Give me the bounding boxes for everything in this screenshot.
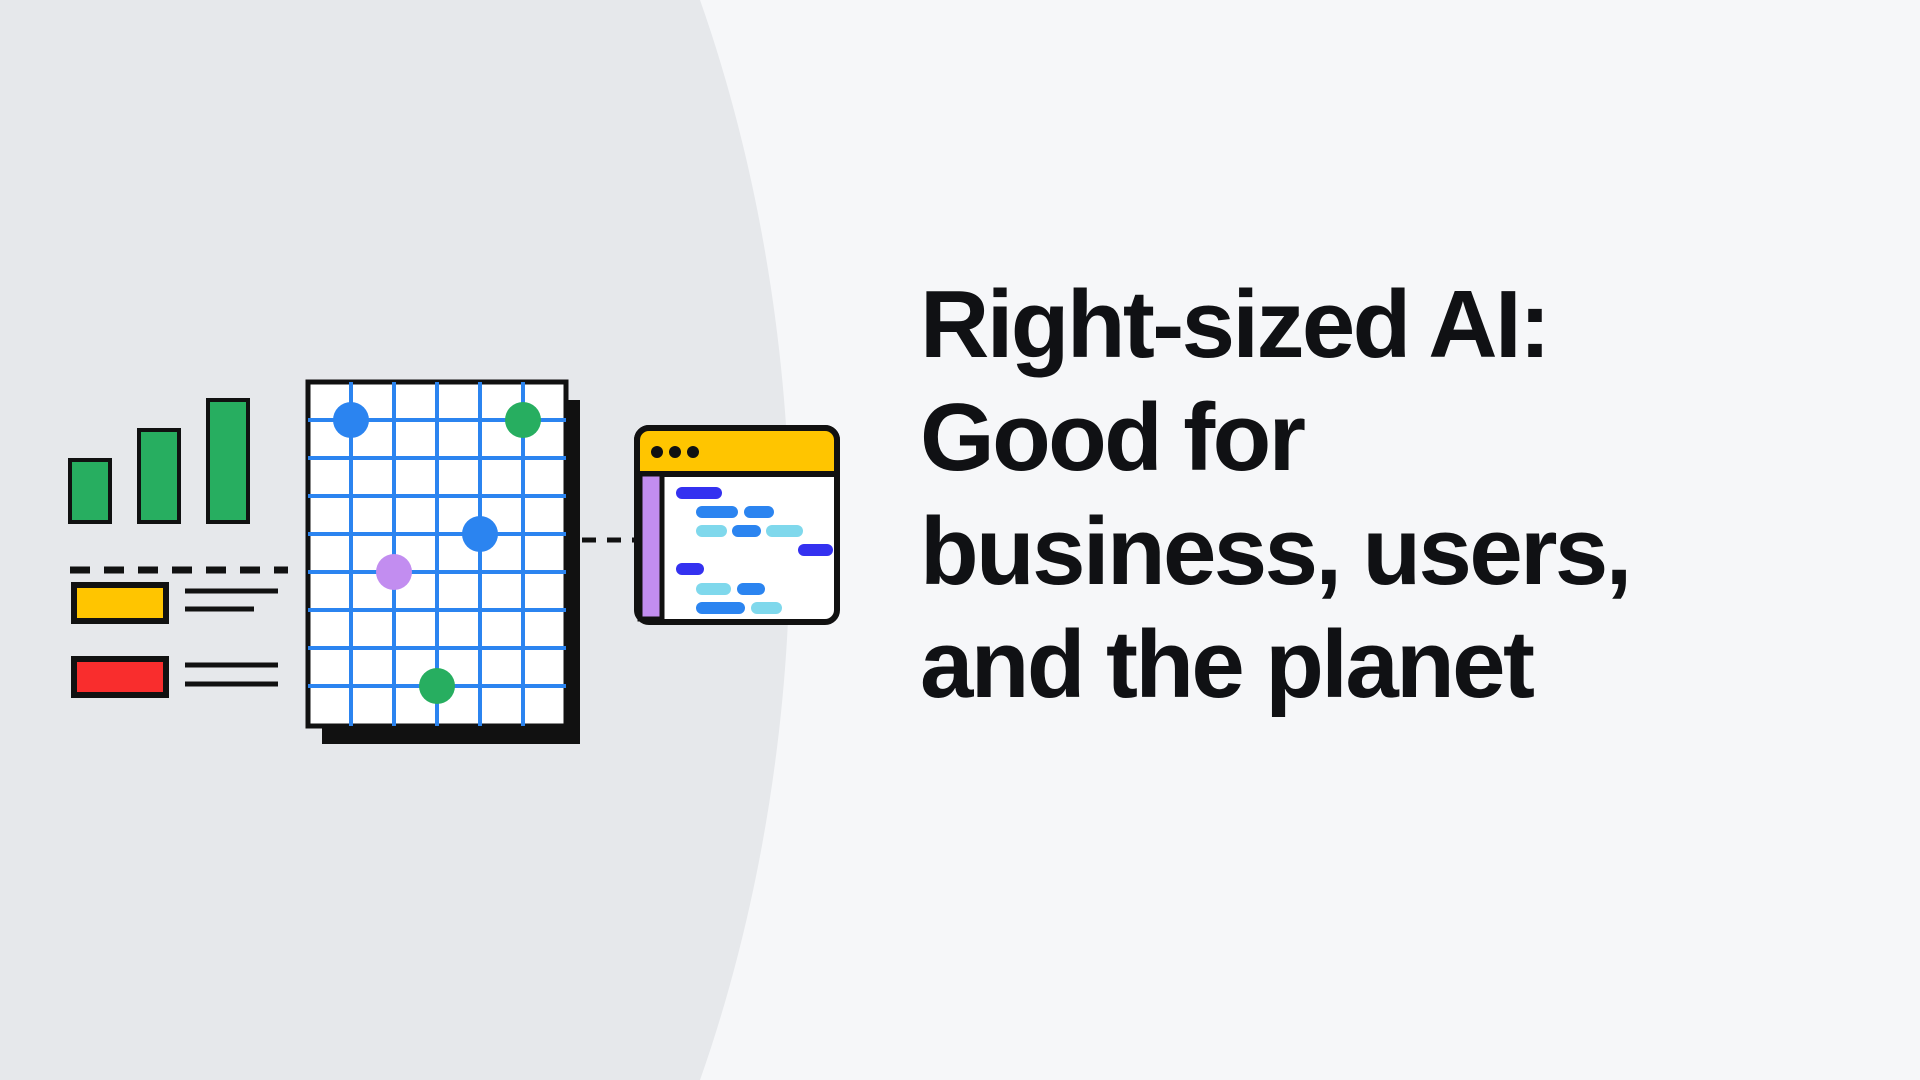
code-bar xyxy=(676,487,722,499)
headline-line-4: and the planet xyxy=(920,608,1780,721)
green-dot-top-right xyxy=(505,402,541,438)
hero-banner: Right-sized AI: Good for business, users… xyxy=(0,0,1920,1080)
headline-block: Right-sized AI: Good for business, users… xyxy=(920,268,1780,721)
scatter-grid-card xyxy=(308,382,580,744)
bar-3 xyxy=(208,400,248,522)
window-dot-1-icon xyxy=(651,446,663,458)
code-bar xyxy=(751,602,782,614)
headline-line-1: Right-sized AI: xyxy=(920,268,1780,381)
code-window xyxy=(637,428,837,622)
blue-dot-top-left xyxy=(333,402,369,438)
code-bar xyxy=(696,506,738,518)
headline-line-2: Good for xyxy=(920,381,1780,494)
window-dot-2-icon xyxy=(669,446,681,458)
legend-swatch-red xyxy=(74,659,166,695)
headline-line-3: business, users, xyxy=(920,495,1780,608)
code-bar xyxy=(732,525,761,537)
code-bar xyxy=(696,583,731,595)
ai-efficiency-illustration xyxy=(0,0,900,1080)
code-window-sidebar xyxy=(640,474,662,619)
bar-chart-group xyxy=(70,400,288,570)
code-bar xyxy=(737,583,765,595)
legend-swatch-yellow xyxy=(74,585,166,621)
window-dot-3-icon xyxy=(687,446,699,458)
green-dot-bottom xyxy=(419,668,455,704)
code-bar xyxy=(766,525,803,537)
purple-dot-center-left xyxy=(376,554,412,590)
bar-1 xyxy=(70,460,110,522)
blue-dot-center xyxy=(462,516,498,552)
code-bar xyxy=(696,525,727,537)
bar-2 xyxy=(139,430,179,522)
legend-group xyxy=(74,585,278,695)
code-bar xyxy=(798,544,833,556)
code-bar xyxy=(696,602,745,614)
page-title: Right-sized AI: Good for business, users… xyxy=(920,268,1780,721)
code-bar xyxy=(676,563,704,575)
code-bar xyxy=(744,506,774,518)
code-window-titlebar xyxy=(637,428,837,474)
